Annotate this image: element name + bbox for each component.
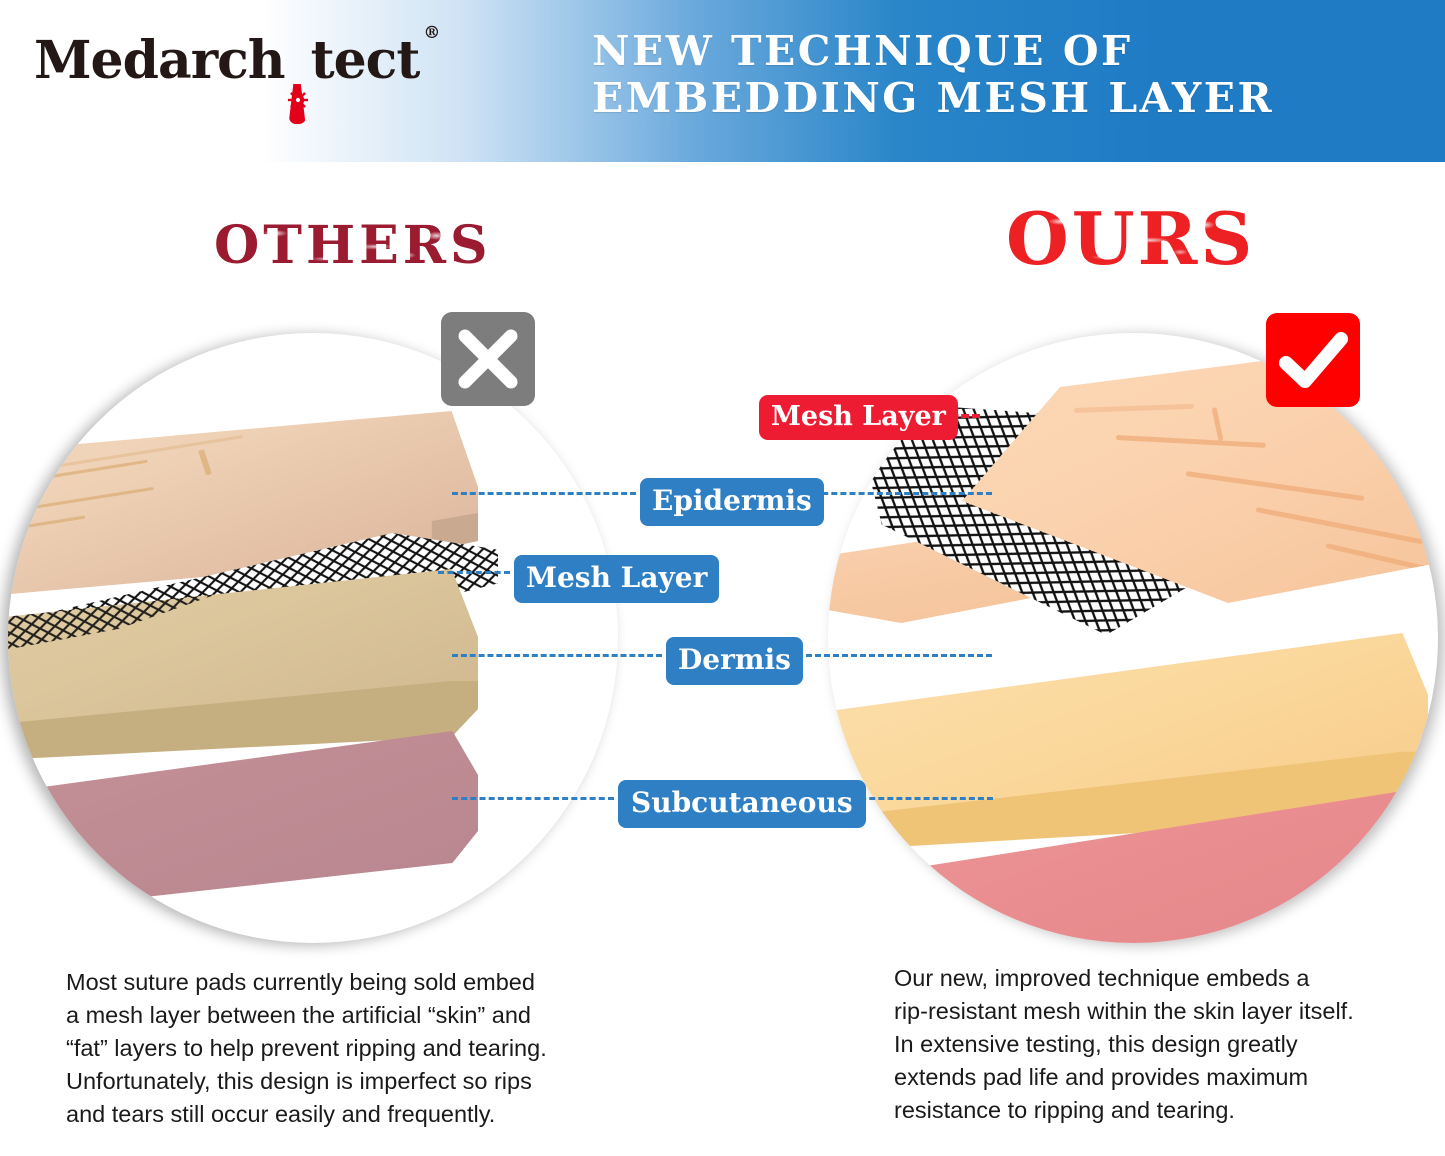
registered-trademark-icon: ® bbox=[423, 23, 439, 43]
gear-icon bbox=[288, 62, 308, 82]
others-cross-badge bbox=[441, 312, 535, 406]
label-subcutaneous: Subcutaneous bbox=[618, 780, 866, 828]
others-subcutaneous-layer bbox=[8, 731, 478, 931]
ours-check-badge bbox=[1266, 313, 1360, 407]
others-illustration bbox=[8, 333, 618, 943]
infographic-page: Medarchtect® NEW TECHNIQUE OF EMBEDDING … bbox=[0, 0, 1445, 1156]
dash-subcutaneous-left bbox=[452, 797, 614, 800]
brand-logo-text-part2: tect bbox=[311, 30, 420, 91]
dash-epidermis-left bbox=[452, 492, 636, 495]
label-dermis: Dermis bbox=[666, 637, 803, 685]
dash-mesh-left bbox=[438, 571, 510, 574]
page-title: NEW TECHNIQUE OF EMBEDDING MESH LAYER bbox=[592, 28, 1432, 121]
brand-logo: Medarchtect® bbox=[34, 30, 435, 91]
cross-icon bbox=[441, 312, 535, 406]
others-heading: OTHERS bbox=[214, 215, 492, 276]
label-mesh-layer-ours: Mesh Layer bbox=[759, 395, 958, 440]
label-mesh-layer-others: Mesh Layer bbox=[514, 555, 719, 603]
others-heading-label: OTHERS bbox=[214, 215, 492, 276]
label-epidermis: Epidermis bbox=[640, 478, 824, 526]
dash-dermis-left bbox=[452, 654, 662, 657]
others-caption: Most suture pads currently being sold em… bbox=[66, 966, 626, 1130]
brand-logo-text-part1: Medarch bbox=[34, 30, 285, 91]
ours-heading: OURS bbox=[1006, 196, 1255, 281]
ours-caption: Our new, improved technique embeds a rip… bbox=[894, 962, 1394, 1126]
ours-heading-label: OURS bbox=[1006, 196, 1255, 281]
page-header: Medarchtect® NEW TECHNIQUE OF EMBEDDING … bbox=[0, 0, 1445, 162]
dash-dermis-right bbox=[788, 654, 992, 657]
check-icon bbox=[1266, 313, 1360, 407]
dash-epidermis-right bbox=[804, 492, 992, 495]
